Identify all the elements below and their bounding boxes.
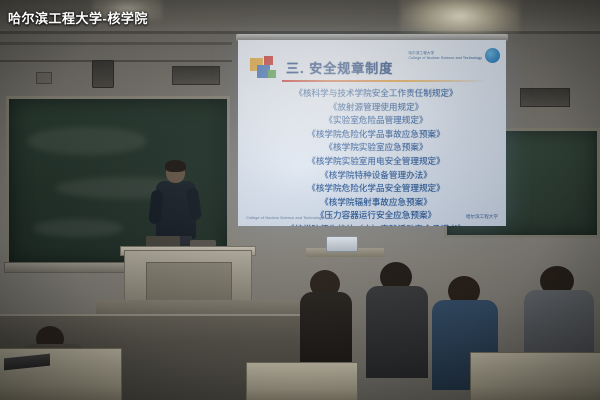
slide-logo-line2: College of Nuclear Science and Technolog… — [408, 56, 482, 60]
projection-screen: 哈尔滨工程大学 College of Nuclear Science and T… — [238, 40, 506, 226]
wall-speaker — [92, 60, 114, 88]
slide-decoration-icon — [248, 54, 282, 84]
slide-list-item: 《核学院实验室应急预案》 — [258, 142, 494, 154]
student-silhouette — [300, 292, 352, 372]
projector — [326, 236, 358, 252]
student-desk — [246, 362, 358, 400]
wall-vent-left — [172, 66, 220, 85]
slide-footer-left: College of Nuclear Science and Technolog… — [246, 215, 323, 220]
slide-title-rule — [282, 80, 488, 82]
presenter-hair — [165, 160, 186, 172]
slide-surface: 哈尔滨工程大学 College of Nuclear Science and T… — [238, 40, 506, 226]
wall-conduit-secondary — [0, 60, 232, 62]
wall-conduit — [0, 42, 232, 45]
slide-title: 三. 安全规章制度 — [286, 58, 393, 77]
slide-bullet-list: 《核科学与技术学院安全工作责任制规定》 《放射源管理使用规定》 《实验室危险品管… — [258, 88, 494, 226]
slide-logo-text: 哈尔滨工程大学 College of Nuclear Science and T… — [408, 51, 482, 60]
slide-list-item: 《核学院特种设备管理办法》 — [258, 170, 494, 182]
wall-vent-right — [520, 88, 570, 107]
slide-list-item: 《核学院危险化学品安全管理规定》 — [258, 183, 494, 195]
slide-list-item: 《放射源管理使用规定》 — [258, 102, 494, 114]
lectern-front-panel — [146, 262, 232, 302]
slide-list-item: 《核学院危险化学品事故应急预案》 — [258, 129, 494, 141]
slide-list-item: 《核学院实验室用电安全管理规定》 — [258, 156, 494, 168]
student-desk — [470, 352, 600, 400]
chalk-mark — [33, 219, 123, 237]
chalk-mark — [27, 127, 147, 155]
caption-overlay: 哈尔滨工程大学-核学院 — [8, 8, 148, 27]
slide-footer-right: 哈尔滨工程大学 — [466, 214, 498, 220]
student-desk — [0, 348, 122, 400]
ceiling-light-glow — [400, 0, 520, 34]
photo-scene: 哈尔滨工程大学 College of Nuclear Science and T… — [0, 0, 600, 400]
slide-list-item: 《实验室危险品管理规定》 — [258, 115, 494, 127]
student-silhouette — [366, 286, 428, 378]
slide-university-logo: 哈尔滨工程大学 College of Nuclear Science and T… — [408, 48, 500, 63]
university-emblem-icon — [485, 48, 500, 63]
slide-list-item: 《核学院辐射事故应急预案》 — [258, 197, 494, 209]
slide-list-item: 《核科学与技术学院安全工作责任制规定》 — [258, 88, 494, 100]
wall-switch-box — [36, 72, 52, 84]
slide-list-item: 《核学院师生校外（内）实践活动安全承诺书》 — [258, 224, 494, 226]
